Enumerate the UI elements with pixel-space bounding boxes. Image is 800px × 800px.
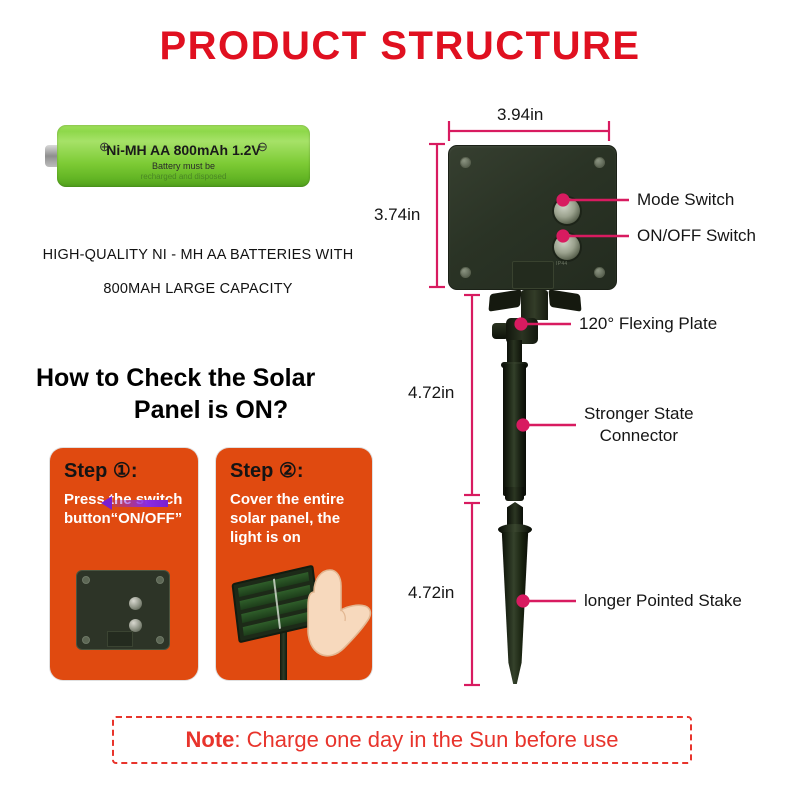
- callout-mode-switch: Mode Switch: [637, 189, 734, 211]
- dimension-lines: [0, 0, 800, 800]
- callout-pointed-stake: longer Pointed Stake: [584, 590, 742, 612]
- product-diagram: IP44: [0, 0, 800, 800]
- dimension-connector-label: 4.72in: [408, 383, 454, 403]
- note-prefix: Note: [186, 727, 235, 752]
- callout-onoff-switch: ON/OFF Switch: [637, 225, 756, 247]
- dimension-stake-label: 4.72in: [408, 583, 454, 603]
- callout-connector-line2: Connector: [584, 425, 694, 447]
- callout-connector-line1: Stronger State: [584, 403, 694, 425]
- dimension-width-label: 3.94in: [497, 105, 543, 125]
- note-text: Note: Charge one day in the Sun before u…: [186, 727, 619, 753]
- callout-flexing-plate: 120° Flexing Plate: [579, 313, 717, 335]
- dimension-panel-height-label: 3.74in: [374, 205, 420, 225]
- note-banner: Note: Charge one day in the Sun before u…: [112, 716, 692, 764]
- infographic-page: PRODUCT STRUCTURE ⊕ Ni-MH AA 800mAh 1.2V…: [0, 0, 800, 800]
- callout-stronger-state-connector: Stronger State Connector: [584, 403, 694, 447]
- note-body: : Charge one day in the Sun before use: [234, 727, 618, 752]
